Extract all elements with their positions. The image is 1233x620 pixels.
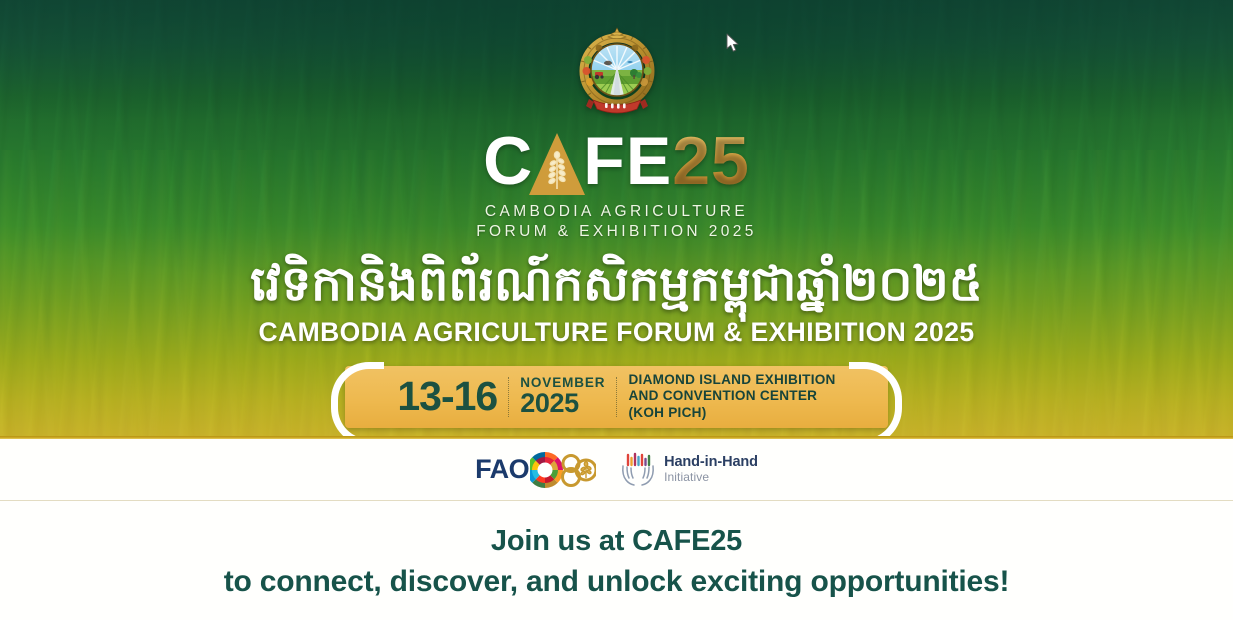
venue-line-3: (KOH PICH): [628, 405, 706, 420]
wordmark-25: 25: [672, 127, 750, 195]
event-venue: DIAMOND ISLAND EXHIBITION AND CONVENTION…: [628, 372, 835, 422]
fao-80-logo: FAO: [475, 452, 596, 488]
venue-line-2: AND CONVENTION CENTER: [628, 388, 817, 403]
hand-in-hand-subtitle: Initiative: [664, 471, 758, 484]
venue-line-1: DIAMOND ISLAND EXHIBITION: [628, 372, 835, 387]
wordmark-c: C: [483, 127, 533, 195]
hand-in-hand-title: Hand-in-Hand: [664, 455, 758, 470]
hand-in-hand-logo: Hand-in-Hand Initiative: [618, 451, 758, 489]
cta-line-1: Join us at CAFE25: [491, 524, 742, 558]
royal-government-emblem-icon: [571, 26, 663, 122]
wordmark-fe: FE: [583, 127, 672, 195]
event-days: 13-16: [397, 376, 497, 417]
event-month-year: NOVEMBER 2025: [520, 376, 605, 417]
hands-bars-icon: [618, 451, 658, 489]
tagline-line-2: FORUM & EXHIBITION 2025: [476, 222, 757, 242]
english-event-title: CAMBODIA AGRICULTURE FORUM & EXHIBITION …: [259, 317, 975, 348]
hand-in-hand-text: Hand-in-Hand Initiative: [664, 455, 758, 483]
fao-sdg-wheel-icon: [530, 452, 596, 488]
partner-logo-strip: FAO: [0, 439, 1233, 500]
event-year: 2025: [520, 390, 605, 418]
fao-wordmark: FAO: [475, 456, 529, 483]
banner-divider-2: [616, 377, 617, 417]
call-to-action-section: Join us at CAFE25 to connect, discover, …: [0, 501, 1233, 620]
date-venue-banner: 13-16 NOVEMBER 2025 DIAMOND ISLAND EXHIB…: [345, 366, 887, 428]
cafe25-wordmark: C: [483, 126, 750, 196]
banner-left-curve: [331, 362, 384, 436]
cafe25-promo-page: C: [0, 0, 1233, 620]
hero-banner: C: [0, 0, 1233, 436]
khmer-event-title: វេទិកានិងពិព័រណ៍កសិកម្មកម្ពុជាឆ្នាំ២០២៥: [250, 259, 982, 311]
cta-line-2: to connect, discover, and unlock excitin…: [224, 564, 1010, 599]
tagline-line-1: CAMBODIA AGRICULTURE: [476, 202, 757, 222]
banner-right-curve: [849, 362, 902, 436]
banner-divider-1: [508, 377, 509, 417]
wordmark-a-wheat-icon: [529, 133, 585, 195]
wordmark-tagline: CAMBODIA AGRICULTURE FORUM & EXHIBITION …: [476, 202, 757, 243]
